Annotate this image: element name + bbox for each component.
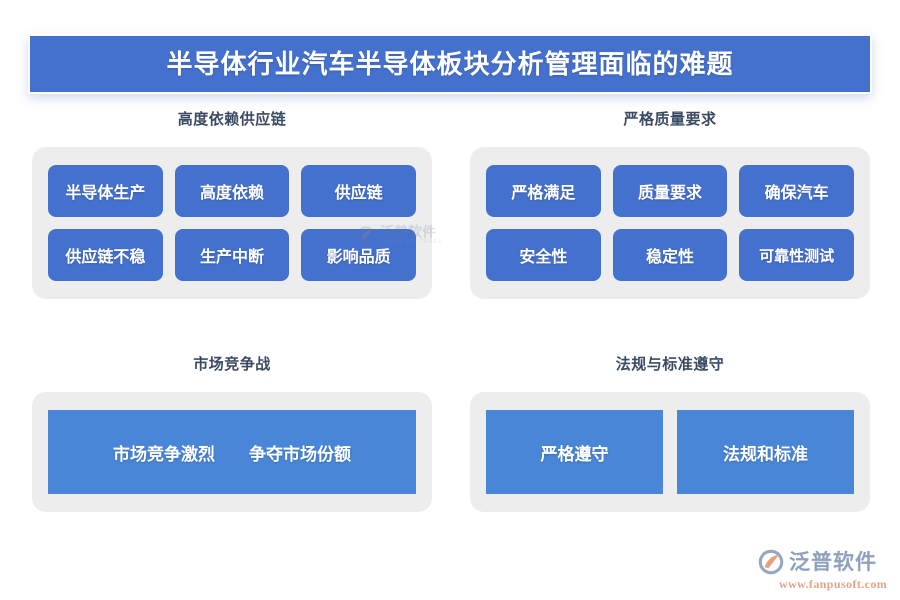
section-regulation: 法规与标准遵守 严格遵守 法规和标准 bbox=[470, 357, 870, 512]
chip-item[interactable]: 供应链 bbox=[301, 165, 416, 217]
section-title-supply-chain: 高度依赖供应链 bbox=[32, 112, 432, 127]
section-supply-chain: 高度依赖供应链 半导体生产 高度依赖 供应链 供应链不稳 生产中断 影响品质 bbox=[32, 112, 432, 299]
section-panel-regulation: 严格遵守 法规和标准 bbox=[470, 392, 870, 512]
chip-item[interactable]: 可靠性测试 bbox=[739, 229, 854, 281]
block-label: 市场竞争激烈 bbox=[113, 440, 215, 465]
section-quality: 严格质量要求 严格满足 质量要求 确保汽车 安全性 稳定性 可靠性测试 bbox=[470, 112, 870, 299]
chip-item[interactable]: 半导体生产 bbox=[48, 165, 163, 217]
block-label: 争夺市场份额 bbox=[249, 440, 351, 465]
chip-item[interactable]: 稳定性 bbox=[613, 229, 728, 281]
section-title-quality: 严格质量要求 bbox=[470, 112, 870, 127]
section-panel-quality: 严格满足 质量要求 确保汽车 安全性 稳定性 可靠性测试 bbox=[470, 147, 870, 299]
block-item[interactable]: 市场竞争激烈 争夺市场份额 bbox=[48, 410, 416, 494]
brand-logo-name: 泛普软件 bbox=[789, 552, 877, 573]
chip-item[interactable]: 高度依赖 bbox=[175, 165, 290, 217]
page-title: 半导体行业汽车半导体板块分析管理面临的难题 bbox=[166, 51, 733, 77]
chip-item[interactable]: 影响品质 bbox=[301, 229, 416, 281]
chip-item[interactable]: 确保汽车 bbox=[739, 165, 854, 217]
section-panel-supply-chain: 半导体生产 高度依赖 供应链 供应链不稳 生产中断 影响品质 bbox=[32, 147, 432, 299]
brand-logo-row: 泛普软件 bbox=[757, 548, 877, 576]
section-title-market-competition: 市场竞争战 bbox=[32, 357, 432, 372]
block-item[interactable]: 法规和标准 bbox=[677, 410, 854, 494]
chip-item[interactable]: 生产中断 bbox=[175, 229, 290, 281]
chip-item[interactable]: 供应链不稳 bbox=[48, 229, 163, 281]
infographic-page: 半导体行业汽车半导体板块分析管理面临的难题 高度依赖供应链 半导体生产 高度依赖… bbox=[0, 0, 900, 600]
fanpu-logo-icon bbox=[757, 548, 785, 576]
page-title-banner: 半导体行业汽车半导体板块分析管理面临的难题 bbox=[28, 34, 872, 94]
chip-item[interactable]: 严格满足 bbox=[486, 165, 601, 217]
chip-item[interactable]: 质量要求 bbox=[613, 165, 728, 217]
chip-item[interactable]: 安全性 bbox=[486, 229, 601, 281]
block-label: 严格遵守 bbox=[541, 440, 609, 465]
block-label: 法规和标准 bbox=[723, 440, 808, 465]
brand-logo-url: www.fanpusoft.com bbox=[779, 578, 887, 590]
section-title-regulation: 法规与标准遵守 bbox=[470, 357, 870, 372]
brand-logo: 泛普软件 www.fanpusoft.com bbox=[757, 548, 887, 590]
section-panel-market-competition: 市场竞争激烈 争夺市场份额 bbox=[32, 392, 432, 512]
block-item[interactable]: 严格遵守 bbox=[486, 410, 663, 494]
section-market-competition: 市场竞争战 市场竞争激烈 争夺市场份额 bbox=[32, 357, 432, 512]
sections-grid: 高度依赖供应链 半导体生产 高度依赖 供应链 供应链不稳 生产中断 影响品质 严… bbox=[0, 112, 900, 552]
